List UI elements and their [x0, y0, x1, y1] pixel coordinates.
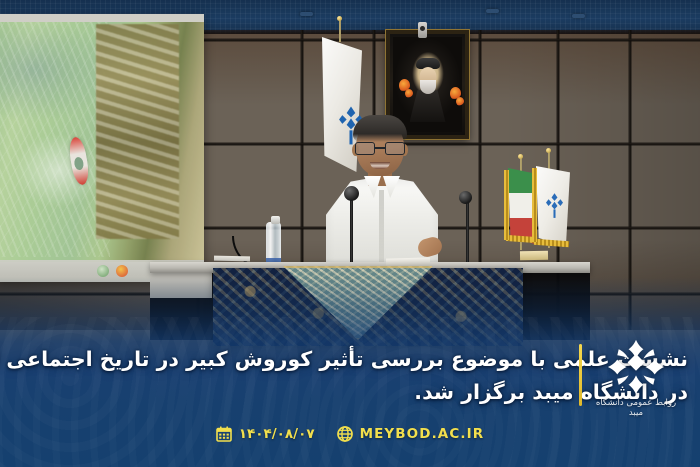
website-item[interactable]: MEYBOD.AC.IR: [337, 426, 485, 442]
globe-icon: [337, 426, 353, 442]
nameplate: [520, 251, 548, 260]
date-text: ۱۴۰۴/۰۸/۰۷: [239, 426, 315, 442]
website-text[interactable]: MEYBOD.AC.IR: [360, 426, 485, 442]
university-logo-on-desk-flag: [546, 192, 563, 220]
headline: نشست علمی با موضوع بررسی تأثیر کوروش کبی…: [8, 343, 688, 409]
chrome-icon: [135, 265, 147, 277]
microphone-stand-secondary: [466, 200, 469, 262]
gold-divider: [579, 344, 582, 406]
firefox-icon: [116, 265, 128, 277]
circle-app-icon: [97, 265, 109, 277]
logo-wordmark: روابط عمومی دانشگاه میبد: [588, 398, 684, 418]
calendar-icon: [216, 426, 232, 442]
microphone-head-secondary: [459, 191, 472, 204]
eyeglasses: [355, 142, 405, 155]
papers-on-table: [386, 257, 430, 265]
projection-screen: [0, 14, 204, 282]
meybod-university-star-logo: [606, 338, 666, 396]
microphone-head: [344, 186, 359, 201]
ceiling-camera: [418, 22, 427, 38]
microphone-stand: [350, 196, 353, 270]
date-item: ۱۴۰۴/۰۸/۰۷: [216, 426, 315, 442]
papers-on-table: [214, 256, 250, 262]
news-banner-poster: نشست علمی با موضوع بررسی تأثیر کوروش کبی…: [0, 0, 700, 467]
public-relations-logo-lockup: روابط عمومی دانشگاه میبد: [588, 338, 684, 418]
meta-row: ۱۴۰۴/۰۸/۰۷ MEYBOD.AC.IR: [0, 426, 700, 442]
